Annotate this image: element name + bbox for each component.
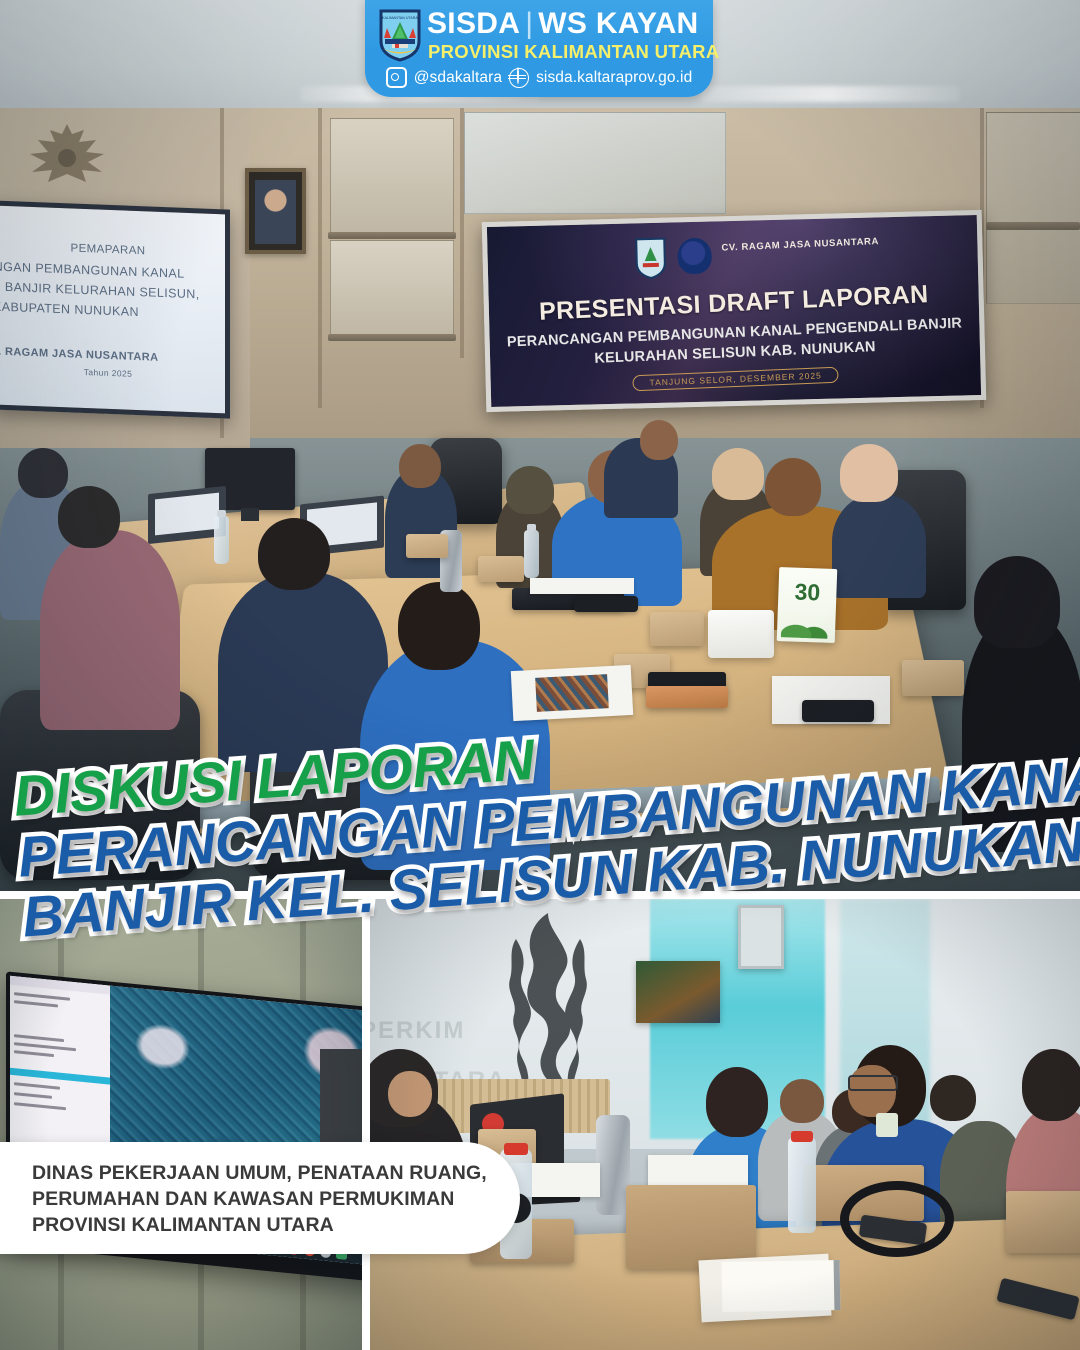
garuda-emblem-icon — [22, 118, 112, 188]
wall-text-perkim: PERKIM — [370, 1017, 465, 1045]
cardboard-box — [1006, 1191, 1080, 1253]
gis-selected-layer — [10, 1068, 110, 1085]
wall-shelf — [328, 232, 456, 239]
person-head — [706, 1067, 768, 1137]
framed-portrait — [245, 168, 306, 254]
person-head — [506, 466, 554, 514]
banner-crest-icon — [634, 237, 667, 280]
glass-partition — [464, 112, 726, 214]
person-head — [258, 518, 330, 590]
framed-photo — [636, 961, 720, 1023]
banner-company: CV. RAGAM JASA NUSANTARA — [721, 236, 879, 254]
ceiling-light — [700, 86, 960, 102]
person-face — [848, 1065, 896, 1117]
food-box — [478, 556, 524, 582]
person-hijab — [974, 556, 1060, 648]
header-title-main: SISDA — [427, 7, 520, 40]
header-contact-row: @sdakaltara sisda.kaltaraprov.go.id — [365, 67, 713, 88]
poster-canvas: PEMAPARAN ANGAN PEMBANGUNAN KANAL ALI BA… — [0, 0, 1080, 1350]
cable-coil — [840, 1181, 954, 1257]
water-bottle — [788, 1137, 816, 1233]
bottle-cap — [791, 1131, 813, 1142]
caption-text: DINAS PEKERJAAN UMUM, PENATAAN RUANG, PE… — [32, 1160, 474, 1238]
desk-calendar: 30 — [777, 567, 838, 643]
gis-monitor-photo — [0, 899, 362, 1350]
food-box — [406, 534, 448, 558]
caption-line-1: DINAS PEKERJAAN UMUM, PENATAAN RUANG, — [32, 1160, 474, 1186]
calendar-number: 30 — [778, 578, 837, 607]
discussion-room-photo: PERKIM TAN UTARA — [370, 899, 1080, 1350]
header-banner: KALIMANTAN UTARA SISDA|WS KAYAN PROVINSI… — [365, 0, 713, 97]
slide-line-6: Tahun 2025 — [0, 364, 219, 383]
svg-text:KALIMANTAN UTARA: KALIMANTAN UTARA — [382, 16, 418, 20]
banner-footer-chip: TANJUNG SELOR, DESEMBER 2025 — [632, 367, 839, 392]
website-url: sisda.kaltaraprov.go.id — [536, 69, 692, 87]
framed-portrait — [738, 905, 784, 969]
instagram-handle: @sdakaltara — [414, 69, 502, 87]
wall-cabinet — [330, 118, 454, 238]
projector-screen: PEMAPARAN ANGAN PEMBANGUNAN KANAL ALI BA… — [0, 200, 230, 418]
slide-line-2: ANGAN PEMBANGUNAN KANAL — [0, 259, 219, 282]
wall-cabinet — [330, 240, 454, 338]
person-head — [640, 420, 678, 460]
slide-line-5: CV. RAGAM JASA NUSANTARA — [0, 345, 219, 366]
name-badge — [876, 1113, 898, 1137]
wall-shelf — [328, 334, 456, 341]
thermos — [596, 1115, 630, 1215]
spiral-notebook — [722, 1260, 841, 1312]
food-box — [650, 612, 704, 646]
backdrop-banner: CV. RAGAM JASA NUSANTARA PRESENTASI DRAF… — [482, 210, 986, 412]
caption-line-3: PROVINSI KALIMANTAN UTARA — [32, 1212, 474, 1238]
tissue-box — [708, 610, 774, 658]
person — [832, 494, 926, 598]
papers — [530, 578, 634, 594]
caption-pill: DINAS PEKERJAAN UMUM, PENATAAN RUANG, PE… — [0, 1142, 520, 1254]
papers — [648, 1155, 748, 1189]
kalimantan-utara-crest-icon: KALIMANTAN UTARA — [378, 8, 422, 62]
person-head — [930, 1075, 976, 1121]
slide-line-1: PEMAPARAN — [0, 240, 219, 261]
eyeglasses-icon — [848, 1075, 898, 1091]
header-title-separator: | — [520, 7, 538, 40]
person-head — [765, 458, 821, 516]
photo-divider-vertical — [362, 899, 370, 1350]
right-cabinet — [986, 112, 1080, 304]
person-head — [18, 448, 68, 498]
instagram-icon — [386, 67, 407, 88]
printed-map-image — [535, 674, 609, 712]
bottle-cap — [504, 1143, 528, 1155]
person-head — [58, 486, 120, 548]
person-head — [398, 582, 480, 670]
person-face — [388, 1071, 432, 1117]
slide-line-4: KABUPATEN NUNUKAN — [0, 299, 219, 322]
notebook — [646, 686, 728, 708]
header-subtitle: PROVINSI KALIMANTAN UTARA — [428, 41, 720, 63]
water-bottle — [214, 516, 229, 564]
right-shelf — [986, 222, 1080, 230]
person-head — [780, 1079, 824, 1123]
food-box — [902, 660, 964, 696]
person — [40, 530, 180, 730]
phone — [574, 596, 638, 612]
banner-secondary-logo — [677, 238, 712, 275]
cardboard-box — [626, 1185, 756, 1269]
person-head — [1022, 1049, 1080, 1121]
person-hijab — [712, 448, 764, 500]
header-title: SISDA|WS KAYAN — [427, 7, 699, 41]
person-hijab — [840, 444, 898, 502]
water-bottle — [524, 530, 539, 578]
globe-icon — [509, 68, 529, 88]
caption-line-2: PERUMAHAN DAN KAWASAN PERMUKIMAN — [32, 1186, 474, 1212]
header-title-second: WS KAYAN — [538, 7, 698, 40]
person-head — [399, 444, 441, 488]
slide-line-3: ALI BANJIR KELURAHAN SELISUN, — [0, 279, 219, 302]
wall-panel-line — [318, 108, 322, 408]
